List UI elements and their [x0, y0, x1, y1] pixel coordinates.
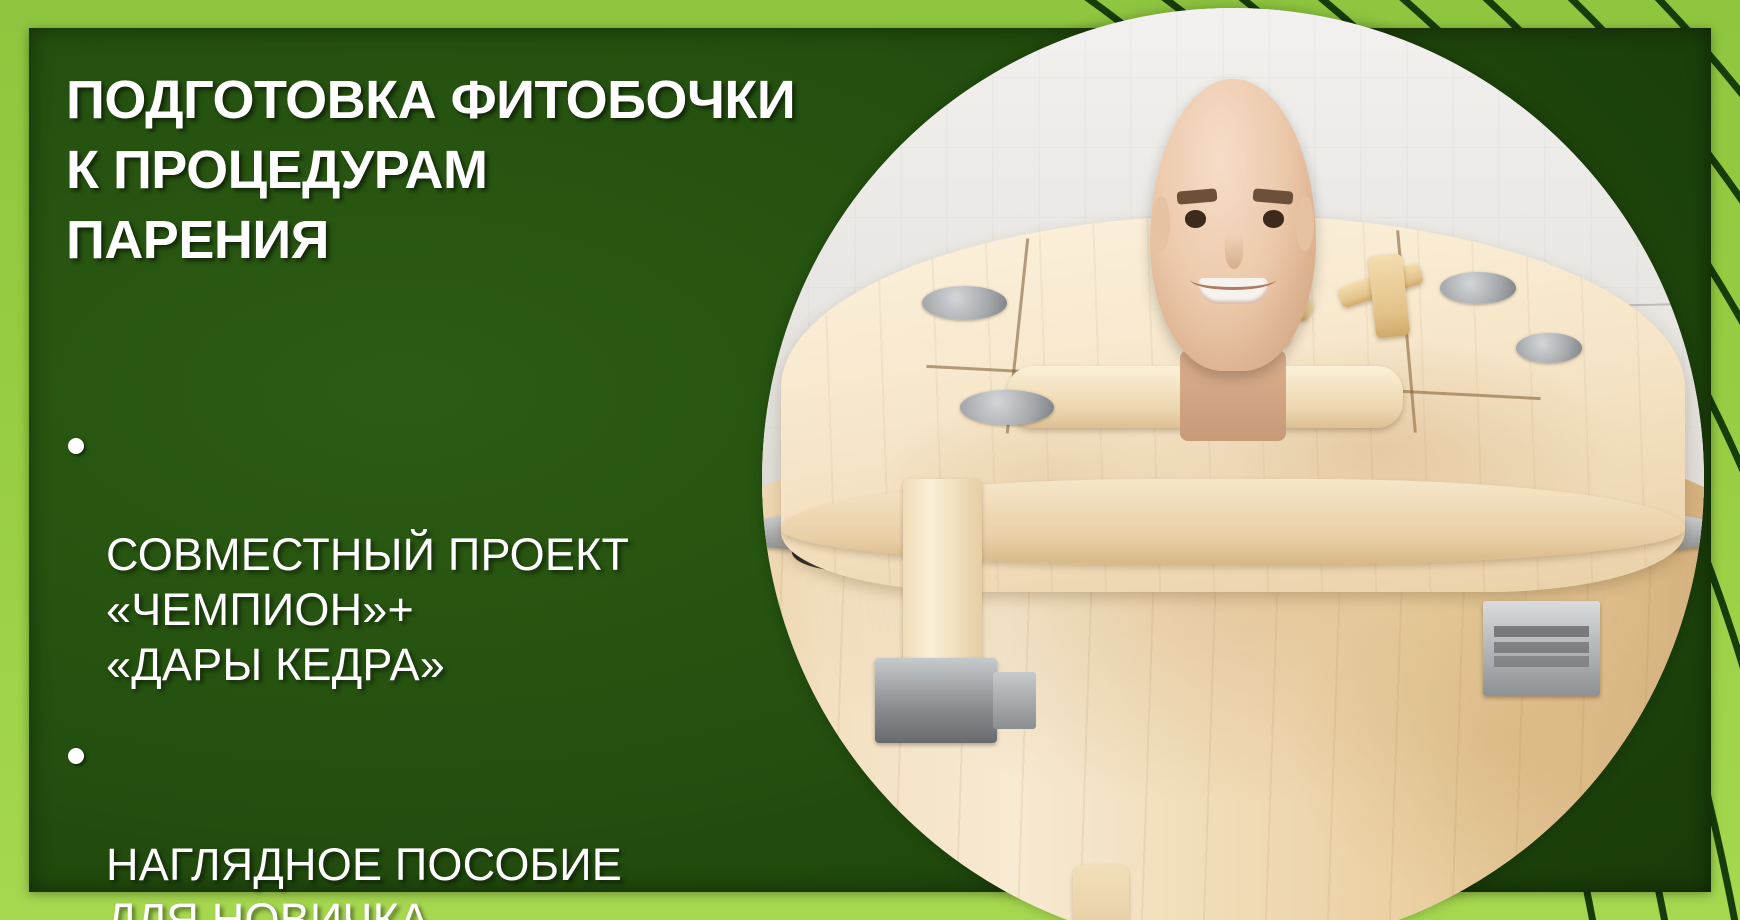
poster-title: ПОДГОТОВКА ФИТОБОЧКИ К ПРОЦЕДУРАМ ПАРЕНИ…: [66, 65, 926, 276]
person-ear-left: [1152, 196, 1170, 252]
person-eyebrow-right: [1252, 188, 1293, 205]
bullet-list: СОВМЕСТНЫЙ ПРОЕКТ «ЧЕМПИОН»+ «ДАРЫ КЕДРА…: [60, 418, 920, 920]
text-content-area: ПОДГОТОВКА ФИТОБОЧКИ К ПРОЦЕДУРАМ ПАРЕНИ…: [36, 28, 916, 858]
person-ear-right: [1296, 196, 1314, 252]
manufacturer-nameplate: [1483, 601, 1601, 695]
person-head: [1150, 79, 1316, 372]
lid-hinge: [1516, 333, 1582, 363]
lid-hinge: [960, 390, 1054, 426]
bullet-item-guide: НАГЛЯДНОЕ ПОСОБИЕ ДЛЯ НОВИЧКА: [60, 728, 920, 920]
person-eye-left: [1185, 210, 1207, 228]
person-eye-right: [1263, 210, 1285, 228]
bullet-text: НАГЛЯДНОЕ ПОСОБИЕ ДЛЯ НОВИЧКА: [106, 839, 622, 920]
lid-hinge: [922, 286, 1007, 320]
bullet-text: СОВМЕСТНЫЙ ПРОЕКТ «ЧЕМПИОН»+ «ДАРЫ КЕДРА…: [106, 529, 629, 690]
bullet-dot-icon: [68, 438, 84, 454]
poster-canvas: ПОДГОТОВКА ФИТОБОЧКИ К ПРОЦЕДУРАМ ПАРЕНИ…: [0, 0, 1740, 920]
bullet-dot-icon: [68, 748, 84, 764]
barrel-latch-catch: [993, 672, 1036, 729]
person-nose: [1225, 234, 1243, 269]
person-eyebrow-left: [1176, 188, 1217, 205]
person-smile: [1198, 278, 1268, 304]
bullet-item-project: СОВМЕСТНЫЙ ПРОЕКТ «ЧЕМПИОН»+ «ДАРЫ КЕДРА…: [60, 418, 920, 692]
barrel-wooden-peg: [1073, 865, 1130, 920]
person-in-barrel: [1139, 79, 1327, 428]
